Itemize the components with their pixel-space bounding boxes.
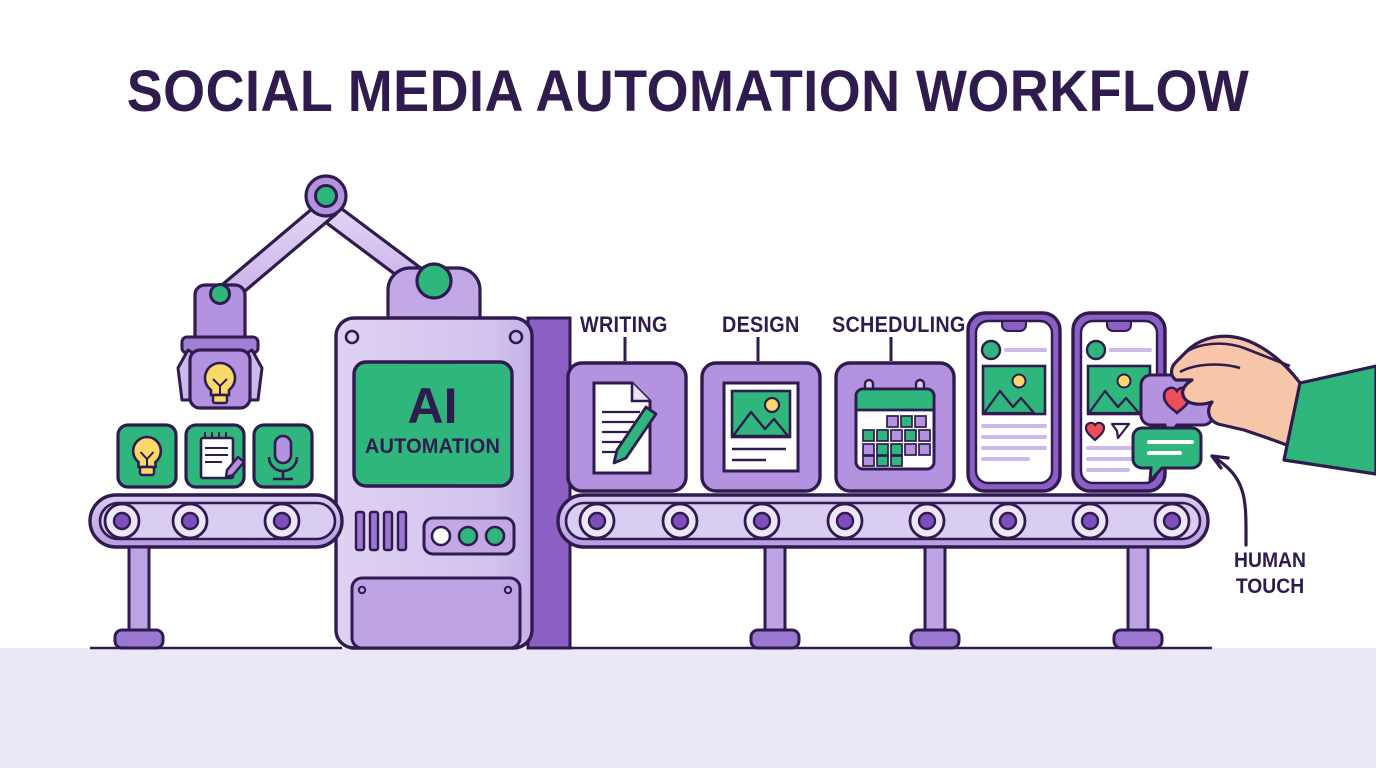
- arm-joint-green: [316, 186, 337, 207]
- infographic-canvas: SOCIAL MEDIA AUTOMATION WORKFLOW: [0, 0, 1376, 768]
- belt-rollers: [105, 504, 299, 538]
- stage-label-scheduling: SCHEDULING: [832, 312, 966, 338]
- arm-joint-green: [417, 264, 451, 298]
- workflow-illustration: [0, 0, 1376, 768]
- stage-card-writing[interactable]: [568, 363, 686, 491]
- stage-label-writing: WRITING: [580, 312, 668, 338]
- ai-automation-machine: [336, 318, 570, 648]
- input-card-voice[interactable]: [254, 425, 312, 487]
- document-pencil-icon: [594, 383, 656, 473]
- phone-notch: [1107, 321, 1131, 331]
- image-frame-icon: [724, 383, 798, 471]
- input-card-idea[interactable]: [118, 425, 176, 487]
- avatar: [1087, 341, 1105, 359]
- belt-leg: [1128, 547, 1148, 635]
- machine-screen: [354, 362, 512, 486]
- human-touch-line2: TOUCH: [1215, 574, 1325, 600]
- stage-card-scheduling[interactable]: [836, 363, 954, 491]
- calendar-icon: [856, 380, 934, 469]
- belt-leg: [129, 547, 149, 635]
- indicator-light-off: [432, 527, 450, 545]
- stage-card-design[interactable]: [702, 363, 820, 491]
- avatar: [982, 341, 1000, 359]
- input-card-notes[interactable]: [186, 425, 244, 487]
- gripper-held-card: [190, 350, 250, 408]
- belt-leg: [925, 547, 945, 635]
- stage-label-design: DESIGN: [722, 312, 800, 338]
- indicator-light-on: [459, 527, 477, 545]
- machine-indicator-panel[interactable]: [424, 518, 514, 554]
- phone-notch: [1002, 321, 1026, 331]
- phone-post-preview[interactable]: [968, 313, 1060, 491]
- belt-leg: [765, 547, 785, 635]
- conveyor-belt-left: [90, 495, 342, 648]
- indicator-light-on: [486, 527, 504, 545]
- human-touch-line1: HUMAN: [1215, 548, 1325, 574]
- human-touch-annotation: HUMAN TOUCH: [1215, 548, 1325, 599]
- curved-arrow-icon: [1212, 456, 1246, 545]
- arm-joint-green: [211, 285, 230, 304]
